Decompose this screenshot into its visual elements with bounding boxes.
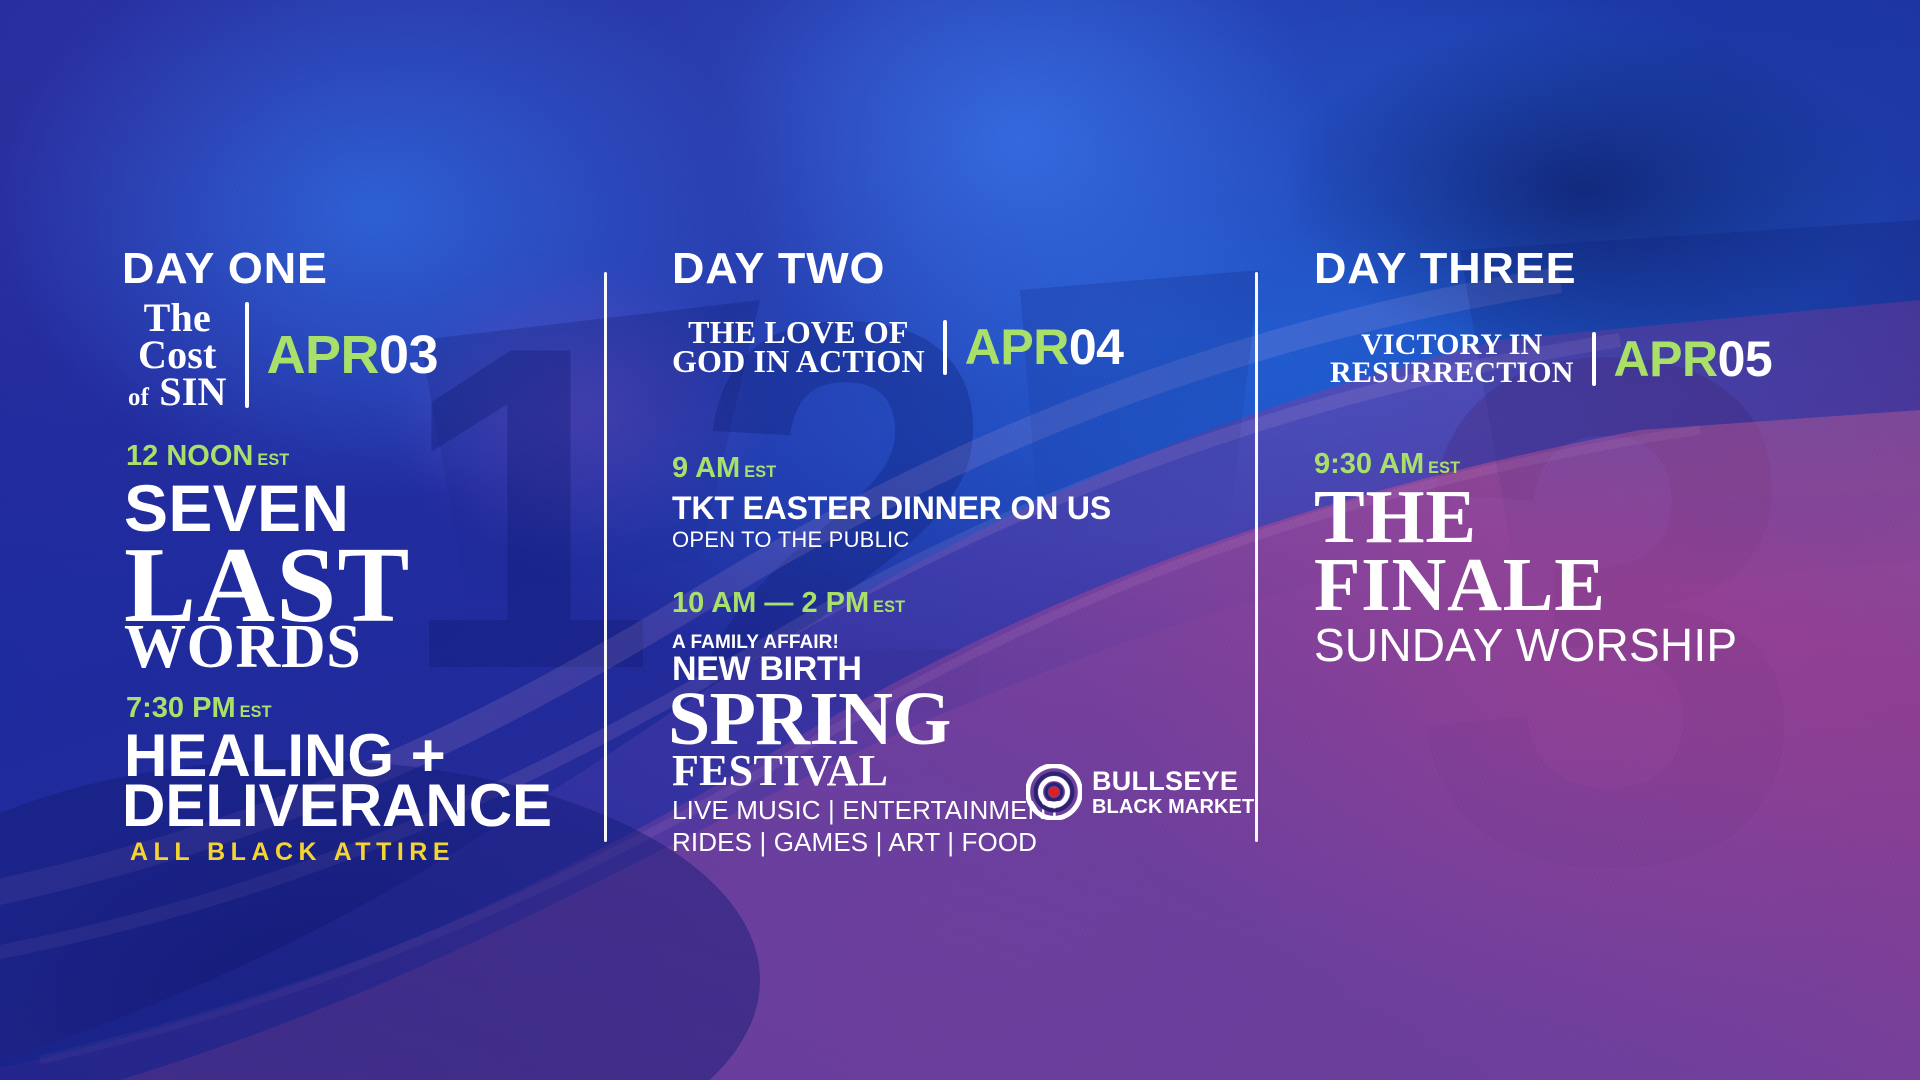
day-one-attire-note: ALL BLACK ATTIRE bbox=[130, 838, 455, 867]
day-three-event-1-title-line-2: FINALE bbox=[1314, 552, 1606, 619]
day-two-event-1-timezone: EST bbox=[744, 463, 776, 481]
day-two-event-1-title: TKT EASTER DINNER ON US bbox=[672, 490, 1111, 527]
day-two-event-1-subtitle: OPEN TO THE PUBLIC bbox=[672, 527, 909, 553]
day-two-features-line-1: LIVE MUSIC | ENTERTAINMENT bbox=[672, 795, 1063, 826]
day-three-theme-row: VICTORY IN RESURRECTION APR05 bbox=[1330, 330, 1772, 388]
day-one-date-day: 03 bbox=[379, 325, 438, 385]
day-two-date-day: 04 bbox=[1069, 319, 1124, 375]
day-one-theme-line-3: SIN bbox=[159, 369, 226, 414]
day-two-features-line-2: RIDES | GAMES | ART | FOOD bbox=[672, 827, 1037, 858]
day-one-event-2-time: 7:30 PMEST bbox=[126, 692, 272, 725]
day-three-date-month: APR bbox=[1614, 331, 1718, 387]
day-two-divider-pipe bbox=[943, 320, 947, 375]
day-three-date-day: 05 bbox=[1718, 331, 1773, 387]
day-one-date-month: APR bbox=[267, 325, 379, 385]
day-two-date: APR04 bbox=[965, 318, 1124, 376]
bullseye-target-icon bbox=[1026, 764, 1082, 820]
day-one-theme-connector: of bbox=[128, 384, 149, 411]
day-one-event-1-timezone: EST bbox=[257, 451, 289, 469]
day-two-event-2-time: 10 AM — 2 PMEST bbox=[672, 587, 905, 620]
day-three-event-1-title-line-1: THE bbox=[1314, 484, 1477, 551]
day-one-date: APR03 bbox=[267, 324, 438, 386]
day-three-label: DAY THREE bbox=[1314, 244, 1576, 294]
day-three-event-1-subtitle: SUNDAY WORSHIP bbox=[1314, 618, 1737, 672]
day-two-event-2-title-line-3: FESTIVAL bbox=[672, 752, 888, 791]
day-one-event-2-timezone: EST bbox=[240, 703, 272, 721]
day-two-event-1-time: 9 AMEST bbox=[672, 452, 776, 485]
day-one-event-1-time: 12 NOONEST bbox=[126, 440, 289, 473]
day-two-date-month: APR bbox=[965, 319, 1069, 375]
day-one-divider-pipe bbox=[245, 302, 249, 408]
bullseye-name-line-2: BLACK MARKET bbox=[1092, 797, 1254, 817]
day-two-event-2-time-value: 10 AM — 2 PM bbox=[672, 587, 869, 619]
day-two-theme-title: THE LOVE OF GOD IN ACTION bbox=[672, 318, 925, 377]
day-two-theme-line-2: GOD IN ACTION bbox=[672, 343, 925, 379]
day-three-theme-title: VICTORY IN RESURRECTION bbox=[1330, 331, 1574, 386]
day-one-theme-title: The Cost of SIN bbox=[128, 300, 227, 410]
bullseye-name-line-1: BULLSEYE bbox=[1092, 768, 1254, 795]
day-one-event-2-time-value: 7:30 PM bbox=[126, 692, 236, 724]
day-two-theme-row: THE LOVE OF GOD IN ACTION APR04 bbox=[672, 318, 1124, 377]
column-divider-2 bbox=[1255, 272, 1258, 842]
event-flyer: 1 2 3 bbox=[0, 0, 1920, 1080]
day-two-label: DAY TWO bbox=[672, 244, 885, 294]
column-divider-1 bbox=[604, 272, 607, 842]
day-one-theme-row: The Cost of SIN APR03 bbox=[128, 300, 438, 410]
day-two-event-2-title-line-2: SPRING bbox=[668, 686, 951, 753]
day-one-event-1-title-line-3: WORDS bbox=[124, 620, 361, 675]
day-two-event-1-time-value: 9 AM bbox=[672, 452, 740, 484]
day-one-event-2-title-line-2: DELIVERANCE bbox=[122, 778, 552, 833]
day-three-divider-pipe bbox=[1592, 332, 1596, 386]
day-three-theme-line-2: RESURRECTION bbox=[1330, 356, 1574, 389]
day-one-event-1-time-value: 12 NOON bbox=[126, 440, 253, 472]
bullseye-black-market-logo: BULLSEYE BLACK MARKET bbox=[1026, 764, 1254, 820]
day-one-label: DAY ONE bbox=[122, 244, 328, 294]
bullseye-wordmark: BULLSEYE BLACK MARKET bbox=[1092, 768, 1254, 817]
day-two-event-2-timezone: EST bbox=[873, 598, 905, 616]
day-three-date: APR05 bbox=[1614, 330, 1773, 388]
